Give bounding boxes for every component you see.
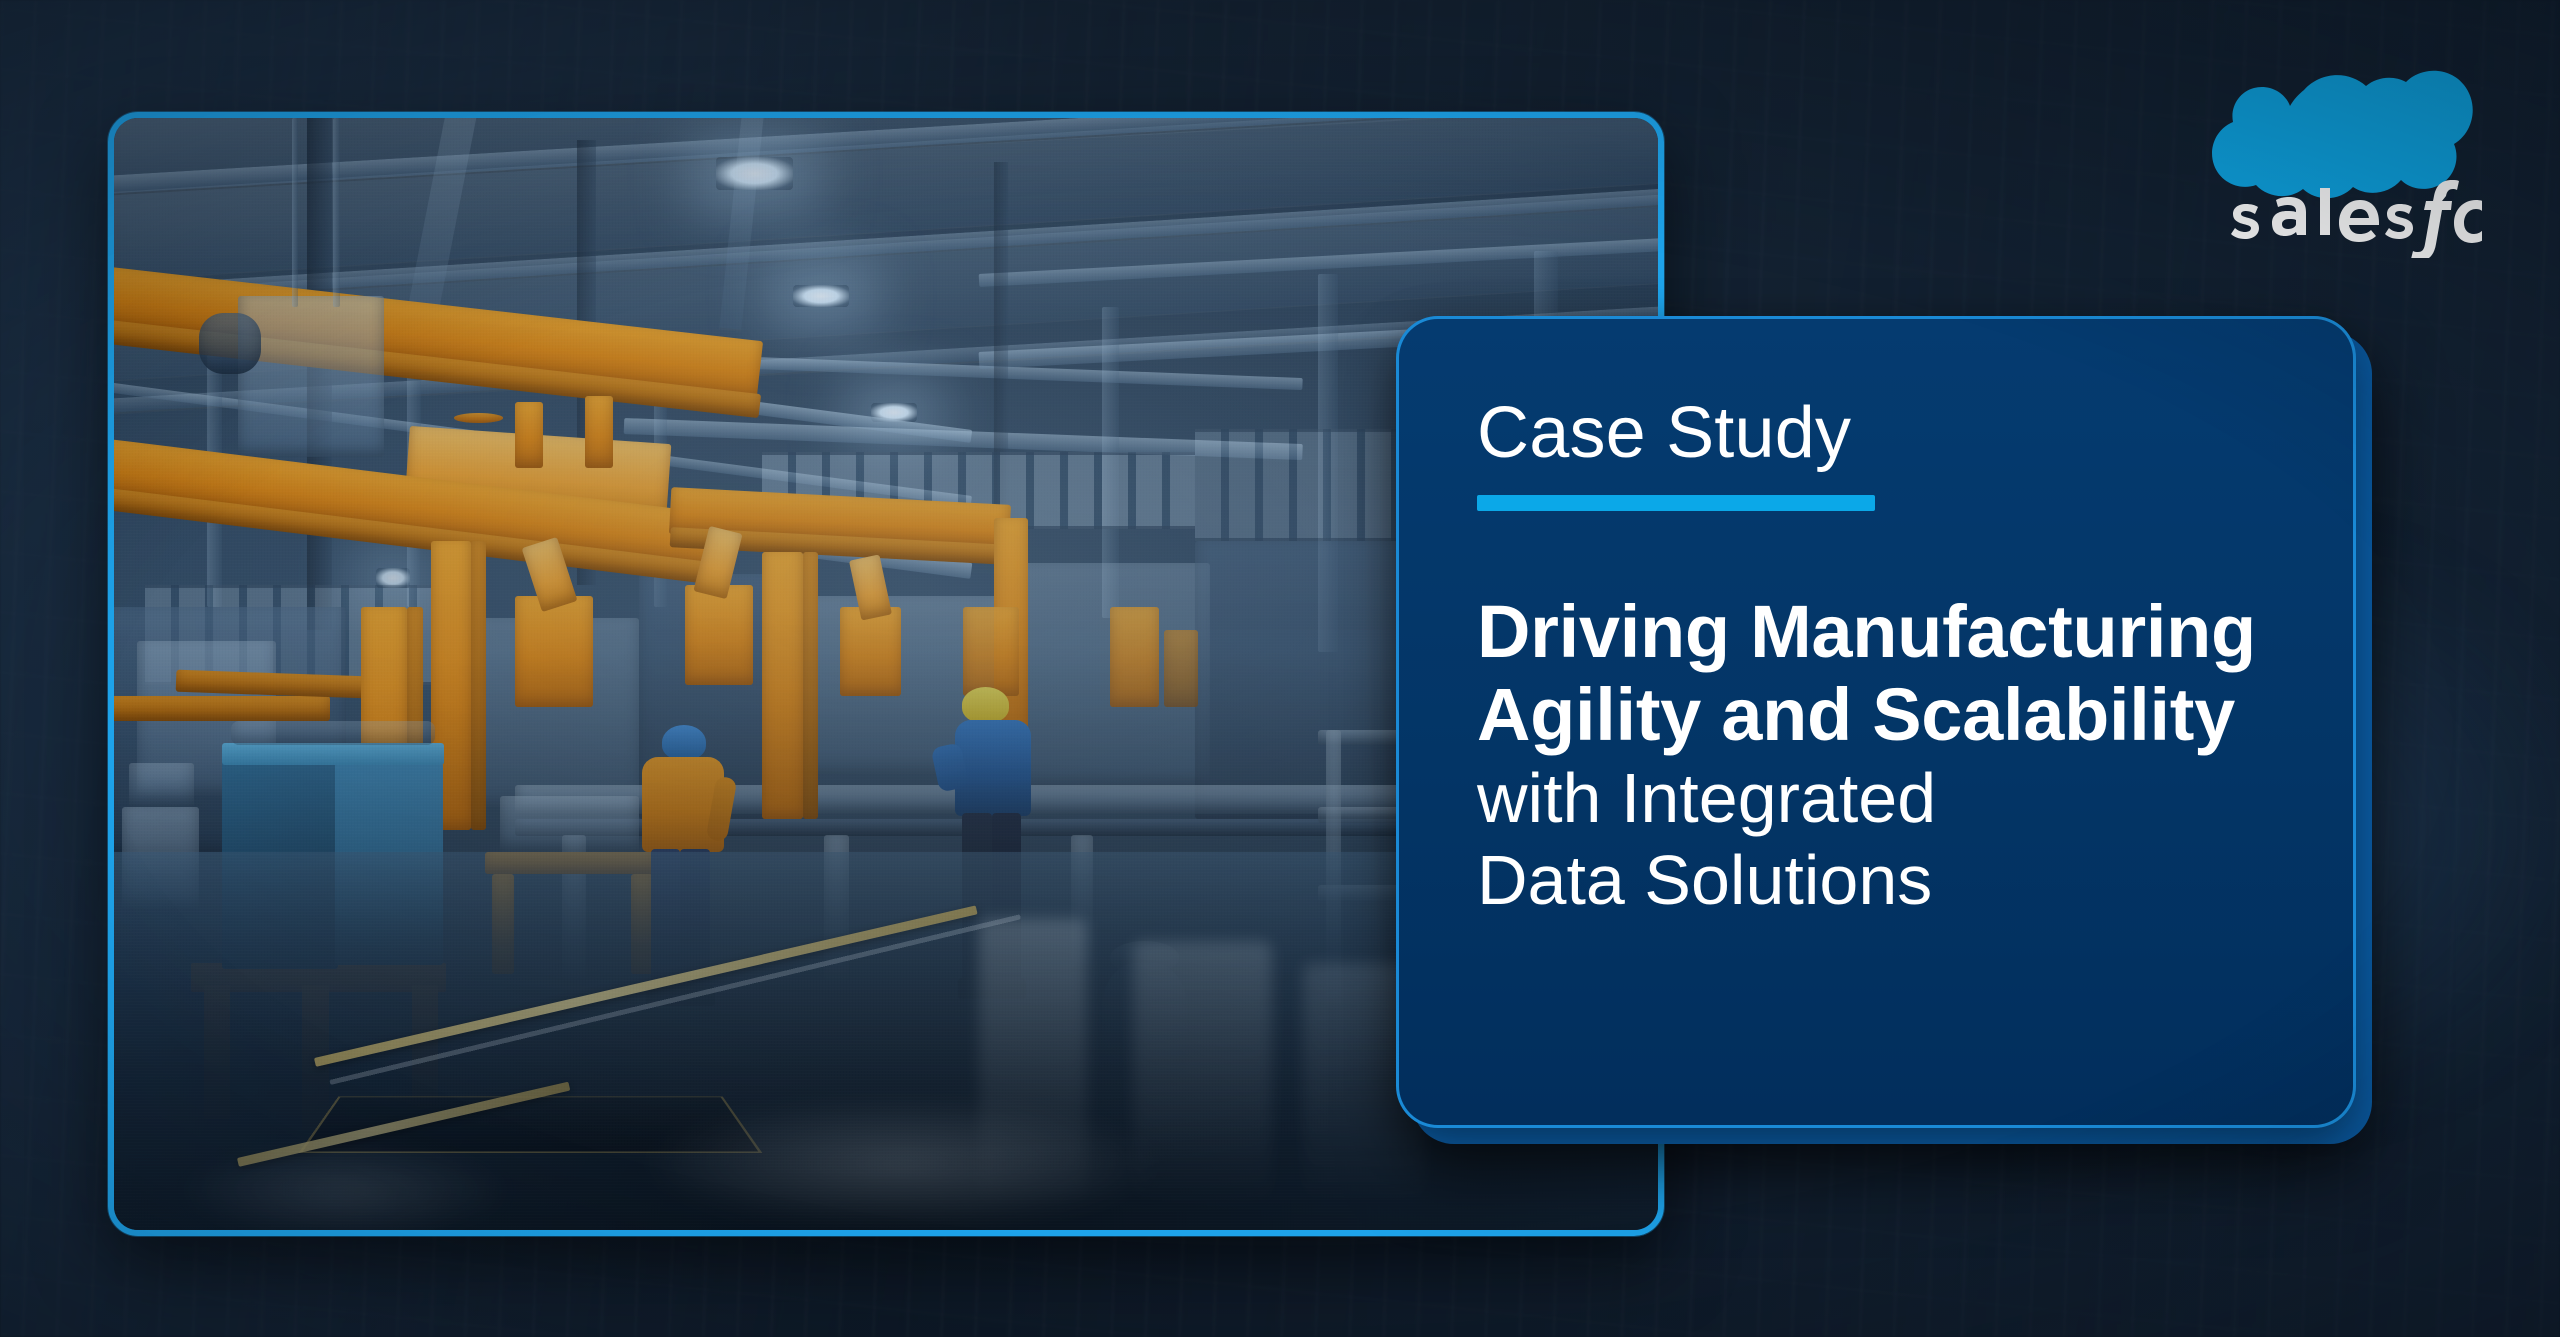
- canvas-vignette: [0, 0, 2560, 1337]
- poster-canvas: Case Study Driving Manufacturing Agility…: [0, 0, 2560, 1337]
